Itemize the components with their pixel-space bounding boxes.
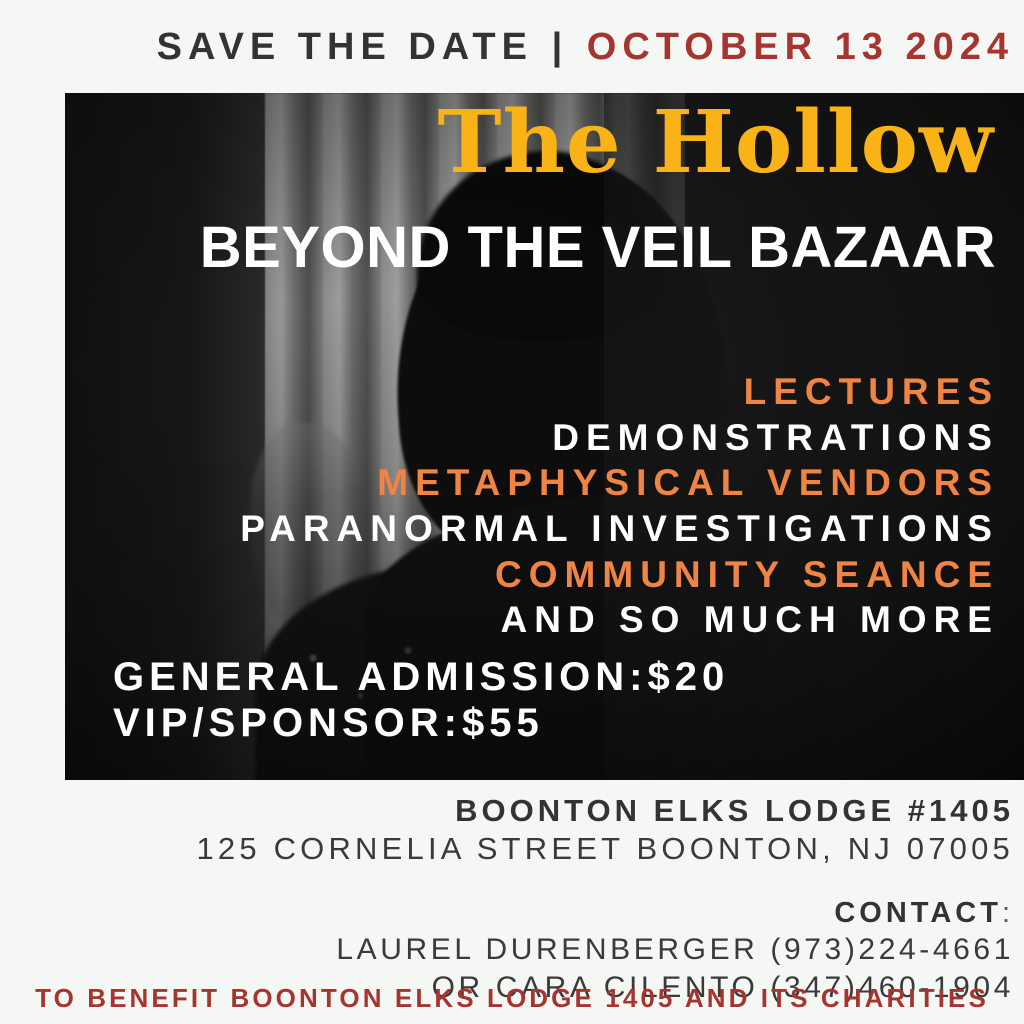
event-flyer: SAVE THE DATE | OCTOBER 13 2024 The Holl… [0, 0, 1024, 1024]
feature-item-demonstrations: DEMONSTRATIONS [240, 418, 999, 459]
venue-name: BOONTON ELKS LODGE #1405 [0, 793, 1014, 829]
header-separator: | [550, 26, 571, 68]
price-vip-sponsor: VIP/SPONSOR:$55 [113, 701, 729, 747]
contact-label-colon: : [1002, 897, 1014, 929]
contact-person-primary: LAUREL DURENBERGER (973)224-4661 [0, 931, 1014, 969]
contact-label: CONTACT: [0, 896, 1014, 931]
header-save-the-date: SAVE THE DATE | OCTOBER 13 2024 [0, 28, 1014, 66]
contact-label-text: CONTACT [834, 897, 1002, 929]
feature-item-community-seance: COMMUNITY SEANCE [240, 555, 999, 596]
event-subtitle: BEYOND THE VEIL BAZAAR [200, 219, 996, 277]
save-the-date-label: SAVE THE DATE [157, 26, 533, 68]
features-list: LECTURES DEMONSTRATIONS METAPHYSICAL VEN… [240, 372, 999, 646]
benefit-footer: TO BENEFIT BOONTON ELKS LODGE 1405 AND I… [0, 983, 1024, 1014]
feature-item-paranormal-investigations: PARANORMAL INVESTIGATIONS [240, 509, 999, 550]
venue-block: BOONTON ELKS LODGE #1405 125 CORNELIA ST… [0, 793, 1014, 869]
hero-photo-panel: The Hollow BEYOND THE VEIL BAZAAR LECTUR… [65, 93, 1024, 780]
event-title: The Hollow [437, 100, 994, 186]
event-date-label: OCTOBER 13 2024 [587, 26, 1014, 68]
feature-item-lectures: LECTURES [240, 372, 999, 413]
price-general-admission: GENERAL ADMISSION:$20 [113, 655, 729, 701]
photo-text-overlay: The Hollow BEYOND THE VEIL BAZAAR LECTUR… [65, 93, 1024, 780]
venue-address: 125 CORNELIA STREET BOONTON, NJ 07005 [0, 829, 1014, 869]
feature-item-and-so-much-more: AND SO MUCH MORE [240, 600, 999, 641]
pricing-list: GENERAL ADMISSION:$20 VIP/SPONSOR:$55 [113, 655, 729, 746]
feature-item-metaphysical-vendors: METAPHYSICAL VENDORS [240, 463, 999, 504]
